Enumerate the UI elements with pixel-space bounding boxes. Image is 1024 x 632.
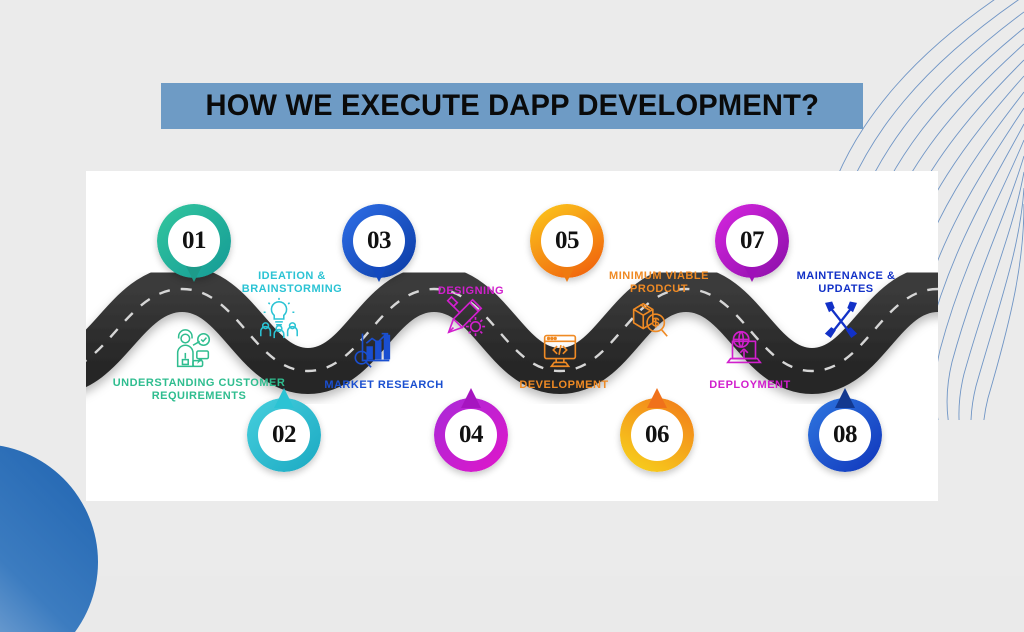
pin-number: 03: [367, 227, 391, 255]
step-pin-05[interactable]: 05: [530, 204, 604, 278]
pin-number-badge: 08: [819, 409, 871, 461]
pin-number-badge: 05: [541, 215, 593, 267]
pin-number-badge: 04: [445, 409, 497, 461]
pin-number: 02: [272, 421, 296, 449]
step-label-08: MAINTENANCE & UPDATES: [776, 270, 916, 297]
pin-number: 06: [645, 421, 669, 449]
title-banner: HOW WE EXECUTE DAPP DEVELOPMENT?: [161, 83, 863, 129]
pin-number-badge: 02: [258, 409, 310, 461]
pin-number-badge: 06: [631, 409, 683, 461]
step-pin-07[interactable]: 07: [715, 204, 789, 278]
step-label-02: IDEATION & BRAINSTORMING: [222, 270, 362, 297]
pin-number-badge: 03: [353, 215, 405, 267]
pin-tail-icon: [274, 388, 294, 408]
chart-magnifier-icon: [351, 326, 397, 372]
pin-number: 08: [833, 421, 857, 449]
step-label-04: DESIGNING: [401, 285, 541, 298]
step-pin-04[interactable]: 04: [434, 398, 508, 472]
roadmap-card: 01 UNDERSTANDING CUSTOMER REQUIREMENTS 0…: [86, 171, 938, 501]
step-label-07: DEPLOYMENT: [670, 379, 830, 392]
pin-number: 07: [740, 227, 764, 255]
pin-number: 04: [459, 421, 483, 449]
step-label-03: MARKET RESEARCH: [289, 379, 479, 392]
pin-tail-icon: [647, 388, 667, 408]
box-dollar-search-icon: [626, 296, 672, 342]
pin-number: 01: [182, 227, 206, 255]
step-pin-01[interactable]: 01: [157, 204, 231, 278]
pin-number: 05: [555, 227, 579, 255]
laptop-upload-icon: [721, 326, 767, 372]
step-label-05: DEVELOPMENT: [484, 379, 644, 392]
step-pin-06[interactable]: 06: [620, 398, 694, 472]
pin-number-badge: 01: [168, 215, 220, 267]
pencil-ruler-icon: [441, 294, 487, 340]
lightbulb-team-icon: [256, 296, 302, 342]
pin-tail-icon: [461, 388, 481, 408]
step-pin-03[interactable]: 03: [342, 204, 416, 278]
step-pin-08[interactable]: 08: [808, 398, 882, 472]
support-agent-icon: [170, 328, 216, 374]
wrench-screwdriver-icon: [818, 298, 864, 344]
page-title: HOW WE EXECUTE DAPP DEVELOPMENT?: [205, 89, 819, 123]
pin-number-badge: 07: [726, 215, 778, 267]
step-pin-02[interactable]: 02: [247, 398, 321, 472]
code-monitor-icon: [537, 326, 583, 372]
pin-tail-icon: [835, 388, 855, 408]
